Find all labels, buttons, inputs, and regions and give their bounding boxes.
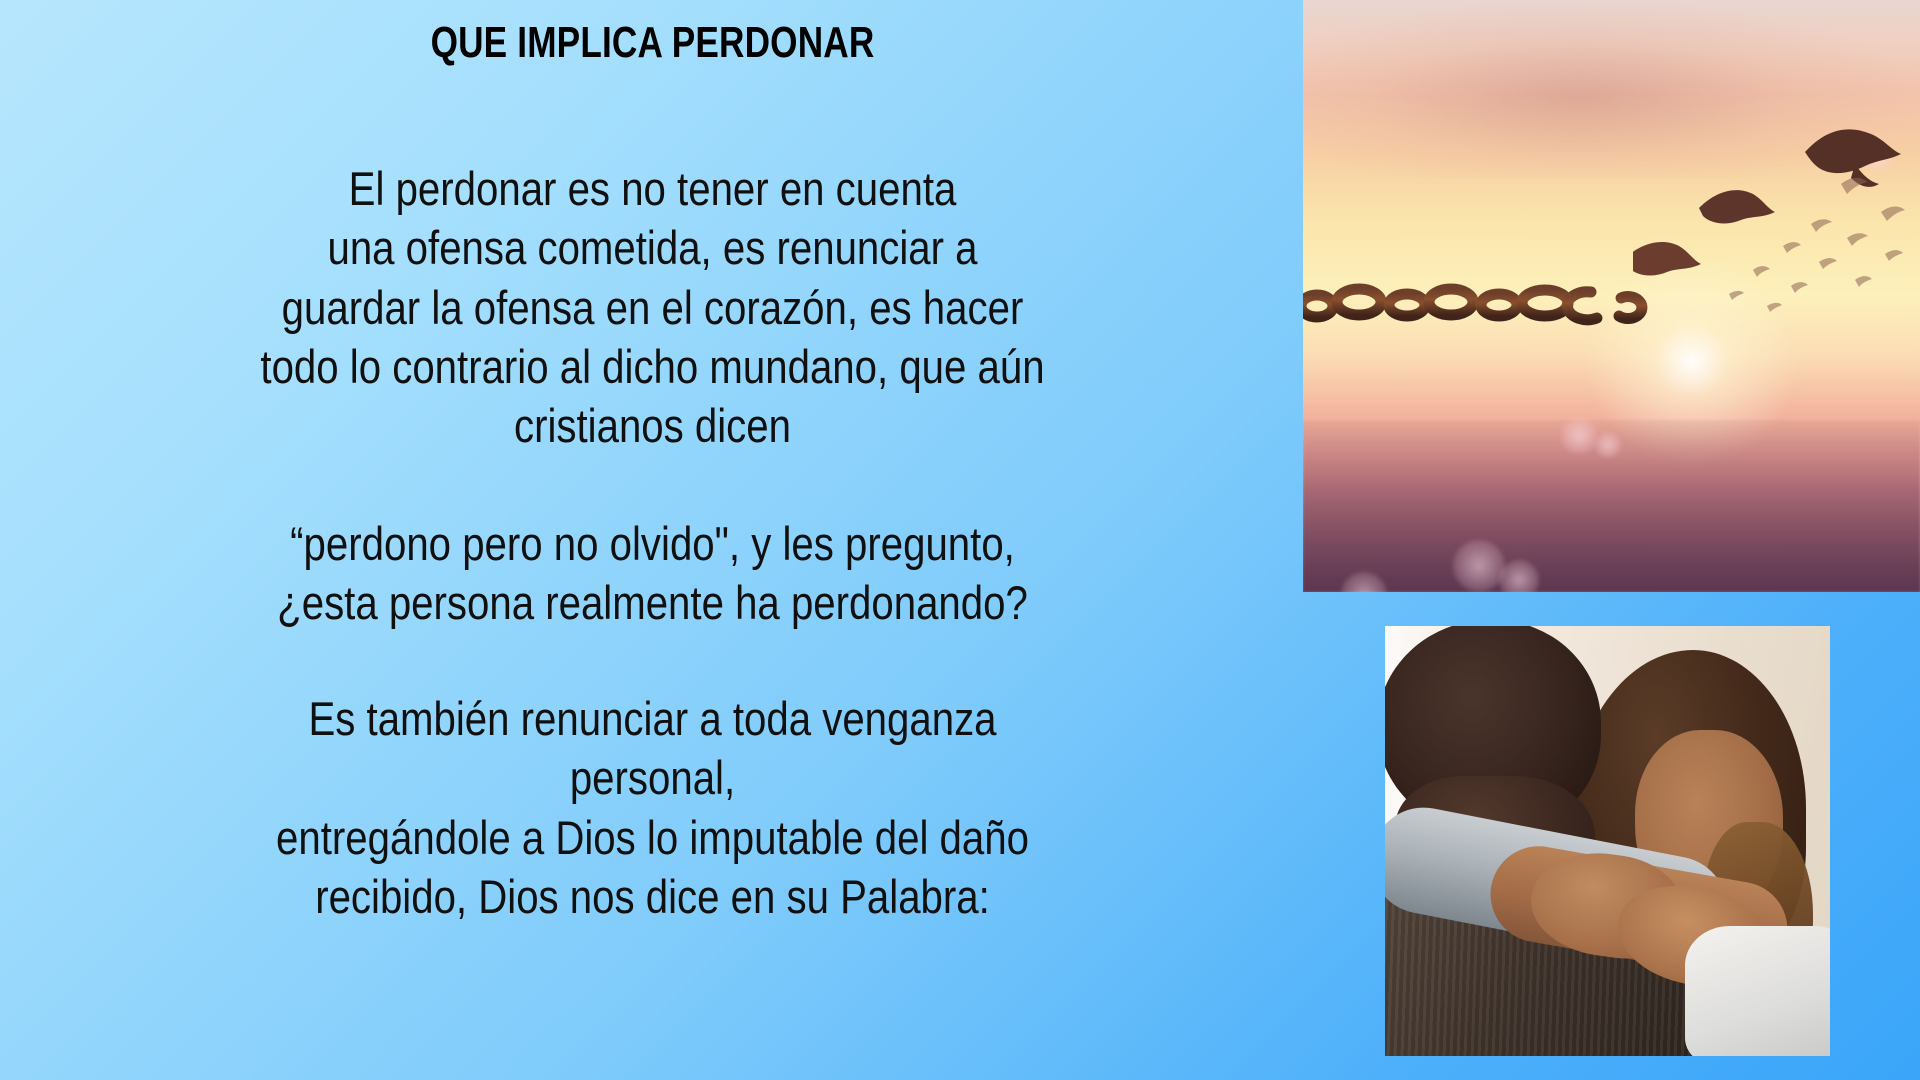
paragraph-spacer-2 — [70, 633, 1235, 689]
text-column: QUE IMPLICA PERDONAR El perdonar es no t… — [70, 0, 1235, 1080]
title-body-spacer — [70, 69, 1235, 159]
body-paragraph-2: “perdono pero no olvido", y les pregunto… — [154, 514, 1150, 633]
birds-flying-icon — [1633, 120, 1920, 370]
body-paragraph-3: Es también renunciar a toda venganza per… — [154, 689, 1150, 927]
broken-chain-birds-sunset-photo — [1303, 0, 1920, 592]
slide-canvas: QUE IMPLICA PERDONAR El perdonar es no t… — [0, 0, 1920, 1080]
paragraph-spacer-1 — [70, 456, 1235, 514]
bokeh-circle — [1561, 418, 1597, 454]
bokeh-circle — [1595, 432, 1621, 458]
couple-embracing-photo — [1385, 626, 1830, 1056]
broken-chain-icon — [1303, 272, 1663, 336]
woman-sleeve — [1685, 926, 1830, 1056]
bokeh-circle — [1453, 540, 1505, 592]
page-title: QUE IMPLICA PERDONAR — [187, 0, 1119, 69]
body-paragraph-1: El perdonar es no tener en cuenta una of… — [154, 159, 1150, 456]
bokeh-circle — [1499, 560, 1539, 592]
